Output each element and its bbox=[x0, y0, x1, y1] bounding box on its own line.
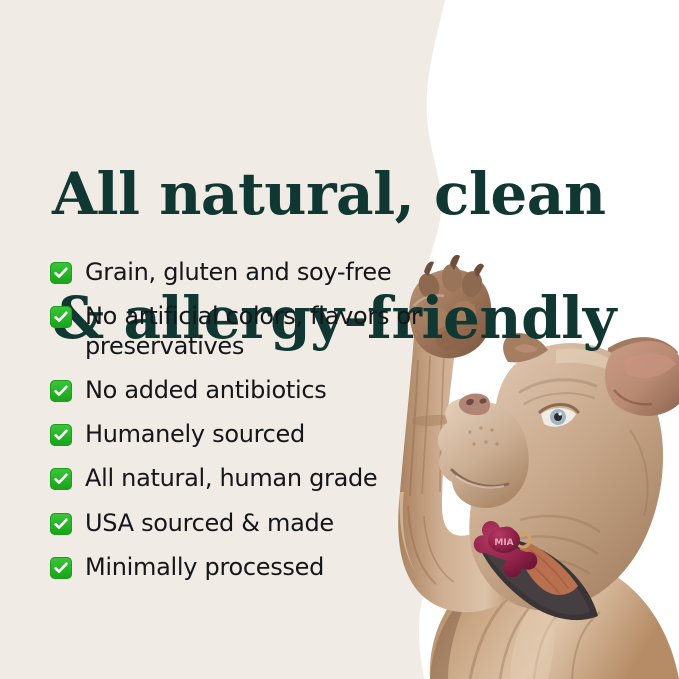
green-check-icon bbox=[50, 306, 72, 328]
page-title-line-1: All natural, clean bbox=[52, 163, 652, 225]
green-check-icon bbox=[50, 380, 72, 402]
green-check-icon bbox=[50, 262, 72, 284]
product-feature-card: MIA All natural, clean & allergy-friendl… bbox=[0, 0, 679, 679]
checklist-item: Humanely sourced bbox=[50, 420, 450, 449]
green-check-icon bbox=[50, 424, 72, 446]
checklist-item-label: Minimally processed bbox=[85, 553, 324, 582]
green-check-icon bbox=[50, 557, 72, 579]
green-check-icon bbox=[50, 513, 72, 535]
checklist-item-label: Grain, gluten and soy-free bbox=[85, 258, 391, 287]
checklist-item: Grain, gluten and soy-free bbox=[50, 258, 450, 287]
checklist-item-label: Humanely sourced bbox=[85, 420, 305, 449]
feature-checklist: Grain, gluten and soy-freeNo artificial … bbox=[50, 258, 450, 597]
checklist-item-label: No artificial colors, flavors or preserv… bbox=[85, 302, 445, 361]
checklist-item: USA sourced & made bbox=[50, 509, 450, 538]
checklist-item: Minimally processed bbox=[50, 553, 450, 582]
checklist-item-label: All natural, human grade bbox=[85, 464, 377, 493]
checklist-item-label: USA sourced & made bbox=[85, 509, 334, 538]
checklist-item: No added antibiotics bbox=[50, 376, 450, 405]
checklist-item: No artificial colors, flavors or preserv… bbox=[50, 302, 450, 361]
green-check-icon bbox=[50, 468, 72, 490]
checklist-item-label: No added antibiotics bbox=[85, 376, 326, 405]
checklist-item: All natural, human grade bbox=[50, 464, 450, 493]
